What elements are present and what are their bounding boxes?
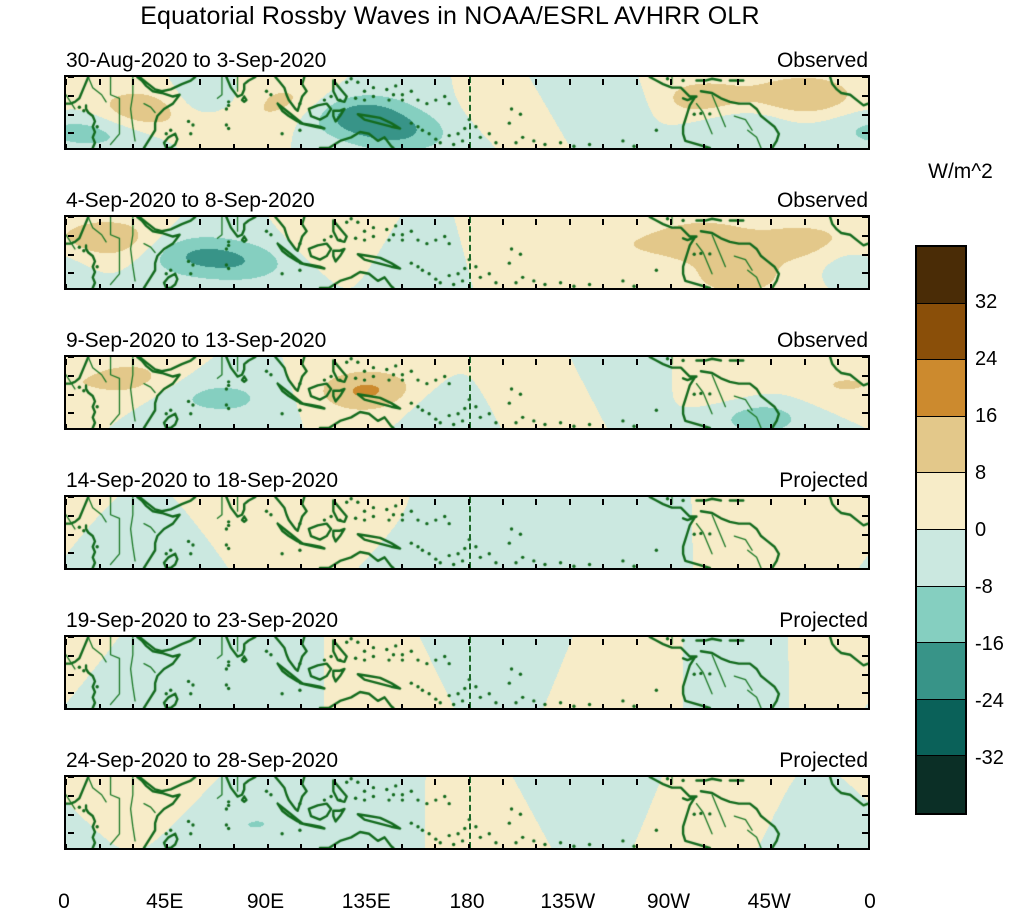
axis-tick: [535, 284, 537, 290]
axis-tick: [401, 284, 403, 290]
panel-date-range: 14-Sep-2020 to 18-Sep-2020: [66, 469, 338, 493]
axis-tick: [334, 359, 336, 365]
dateline-meridian: [469, 777, 471, 848]
panel-plot-area: [64, 495, 870, 570]
axis-tick: [636, 359, 638, 365]
axis-tick: [770, 424, 772, 430]
axis-tick: [132, 219, 134, 225]
axis-tick: [468, 144, 470, 150]
axis-tick: [862, 776, 868, 778]
axis-tick: [703, 844, 705, 850]
axis-tick: [334, 499, 336, 505]
axis-tick: [367, 219, 369, 225]
axis-tick: [670, 499, 672, 505]
axis-tick: [737, 79, 739, 85]
axis-tick: [166, 499, 168, 505]
axis-tick: [569, 499, 571, 505]
x-axis-tick-label: 180: [449, 890, 484, 914]
axis-tick: [300, 844, 302, 850]
axis-tick: [99, 359, 101, 365]
axis-tick: [166, 639, 168, 645]
x-axis-tick-label: 45W: [748, 890, 791, 914]
axis-tick: [166, 704, 168, 710]
axis-tick: [502, 219, 504, 225]
x-axis-tick-label: 45E: [146, 890, 183, 914]
axis-tick: [535, 79, 537, 85]
axis-tick: [636, 219, 638, 225]
axis-tick: [670, 359, 672, 365]
axis-tick: [770, 219, 772, 225]
axis-tick: [837, 284, 839, 290]
axis-tick: [166, 424, 168, 430]
axis-tick: [434, 639, 436, 645]
axis-tick: [703, 359, 705, 365]
axis-tick: [737, 639, 739, 645]
axis-tick: [862, 114, 868, 116]
axis-tick: [862, 552, 868, 554]
axis-tick: [334, 779, 336, 785]
axis-tick: [535, 704, 537, 710]
axis-tick: [737, 499, 739, 505]
panel-status-label: Projected: [779, 749, 868, 773]
panel-date-range: 4-Sep-2020 to 8-Sep-2020: [66, 189, 315, 213]
axis-tick: [132, 844, 134, 850]
axis-tick: [166, 219, 168, 225]
axis-tick: [267, 704, 269, 710]
axis-tick: [770, 704, 772, 710]
axis-tick: [434, 79, 436, 85]
axis-tick: [99, 79, 101, 85]
panel-status-label: Observed: [777, 189, 868, 213]
axis-tick: [862, 356, 868, 358]
map-panel[interactable]: 30-Aug-2020 to 3-Sep-2020Observed: [64, 75, 870, 150]
dateline-meridian: [469, 357, 471, 428]
axis-tick: [434, 144, 436, 150]
colorbar-band: [917, 756, 965, 813]
axis-tick: [862, 814, 868, 816]
axis-tick: [804, 79, 806, 85]
axis-tick: [602, 704, 604, 710]
axis-tick: [401, 779, 403, 785]
axis-tick: [602, 779, 604, 785]
x-axis-tick-label: 90W: [647, 890, 690, 914]
axis-tick: [434, 704, 436, 710]
axis-tick: [367, 359, 369, 365]
panel-plot-area: [64, 355, 870, 430]
axis-tick: [334, 639, 336, 645]
panel-status-label: Projected: [779, 469, 868, 493]
panel-header: 30-Aug-2020 to 3-Sep-2020Observed: [64, 49, 870, 73]
colorbar-band: [917, 473, 965, 530]
axis-tick: [199, 144, 201, 150]
axis-tick: [401, 564, 403, 570]
page-title: Equatorial Rossby Waves in NOAA/ESRL AVH…: [0, 2, 900, 31]
axis-tick: [703, 779, 705, 785]
colorbar-tick-labels: 32241680-8-16-24-32: [975, 245, 1021, 815]
axis-tick: [65, 144, 67, 150]
axis-tick: [68, 534, 74, 536]
axis-tick: [334, 144, 336, 150]
axis-tick: [300, 779, 302, 785]
axis-tick: [569, 704, 571, 710]
colorbar-tick-label: 16: [975, 406, 997, 426]
axis-tick: [434, 424, 436, 430]
axis-tick: [569, 144, 571, 150]
axis-tick: [670, 219, 672, 225]
axis-tick: [837, 499, 839, 505]
colorbar-tick-label: 8: [975, 463, 986, 483]
dateline-meridian: [469, 497, 471, 568]
axis-tick: [535, 424, 537, 430]
axis-tick: [199, 284, 201, 290]
axis-tick: [166, 79, 168, 85]
axis-tick: [367, 499, 369, 505]
axis-tick: [68, 114, 74, 116]
map-panel[interactable]: 24-Sep-2020 to 28-Sep-2020Projected: [64, 775, 870, 850]
axis-tick: [862, 692, 868, 694]
axis-tick: [267, 144, 269, 150]
axis-tick: [862, 394, 868, 396]
axis-tick: [468, 359, 470, 365]
axis-tick: [804, 359, 806, 365]
axis-tick: [737, 144, 739, 150]
axis-tick: [636, 284, 638, 290]
axis-tick: [804, 639, 806, 645]
axis-tick: [737, 704, 739, 710]
panel-plot-area: [64, 215, 870, 290]
axis-tick: [602, 144, 604, 150]
axis-tick: [670, 844, 672, 850]
axis-tick: [636, 704, 638, 710]
colorbar-tick-label: -8: [975, 577, 993, 597]
axis-tick: [434, 284, 436, 290]
axis-tick: [334, 564, 336, 570]
axis-tick: [703, 639, 705, 645]
axis-tick: [132, 639, 134, 645]
axis-tick: [602, 639, 604, 645]
axis-tick: [502, 359, 504, 365]
axis-tick: [68, 132, 74, 134]
axis-tick: [99, 284, 101, 290]
axis-tick: [401, 79, 403, 85]
colorbar-tick-label: -16: [975, 634, 1004, 654]
dateline-meridian: [469, 77, 471, 148]
axis-tick: [401, 704, 403, 710]
axis-tick: [300, 79, 302, 85]
axis-tick: [804, 704, 806, 710]
axis-tick: [334, 219, 336, 225]
axis-tick: [703, 499, 705, 505]
axis-tick: [233, 219, 235, 225]
axis-tick: [670, 704, 672, 710]
axis-tick: [569, 79, 571, 85]
axis-tick: [770, 499, 772, 505]
axis-tick: [770, 639, 772, 645]
axis-tick: [166, 779, 168, 785]
axis-tick: [267, 359, 269, 365]
axis-tick: [502, 424, 504, 430]
axis-tick: [367, 564, 369, 570]
axis-tick: [334, 704, 336, 710]
panel-status-label: Observed: [777, 329, 868, 353]
axis-tick: [670, 79, 672, 85]
axis-tick: [233, 79, 235, 85]
axis-tick: [770, 359, 772, 365]
axis-tick: [99, 639, 101, 645]
colorbar[interactable]: [915, 245, 967, 815]
axis-tick: [401, 639, 403, 645]
axis-tick: [68, 552, 74, 554]
panel-header: 19-Sep-2020 to 23-Sep-2020Projected: [64, 609, 870, 633]
axis-tick: [636, 424, 638, 430]
axis-tick: [132, 564, 134, 570]
axis-tick: [770, 564, 772, 570]
axis-tick: [737, 359, 739, 365]
axis-tick: [502, 499, 504, 505]
axis-tick: [68, 412, 74, 414]
axis-tick: [602, 284, 604, 290]
axis-tick: [703, 219, 705, 225]
axis-tick: [267, 639, 269, 645]
axis-tick: [837, 424, 839, 430]
axis-tick: [569, 424, 571, 430]
axis-tick: [804, 424, 806, 430]
axis-tick: [502, 144, 504, 150]
axis-tick: [267, 564, 269, 570]
axis-tick: [300, 639, 302, 645]
axis-tick: [334, 424, 336, 430]
axis-tick: [703, 144, 705, 150]
panel-date-range: 9-Sep-2020 to 13-Sep-2020: [66, 329, 326, 353]
x-axis-tick-label: 0: [58, 890, 70, 914]
axis-tick: [862, 95, 868, 97]
axis-tick: [502, 704, 504, 710]
axis-tick: [367, 704, 369, 710]
axis-tick: [300, 219, 302, 225]
axis-tick: [837, 79, 839, 85]
axis-tick: [367, 844, 369, 850]
axis-tick: [737, 284, 739, 290]
x-axis-tick-label: 135W: [540, 890, 595, 914]
axis-tick: [670, 424, 672, 430]
panel-header: 4-Sep-2020 to 8-Sep-2020Observed: [64, 189, 870, 213]
axis-tick: [367, 779, 369, 785]
axis-tick: [132, 284, 134, 290]
axis-tick: [535, 359, 537, 365]
axis-tick: [68, 76, 74, 78]
axis-tick: [367, 144, 369, 150]
axis-tick: [199, 844, 201, 850]
axis-tick: [68, 235, 74, 237]
axis-tick: [804, 844, 806, 850]
axis-tick: [132, 779, 134, 785]
axis-tick: [703, 284, 705, 290]
axis-tick: [535, 564, 537, 570]
axis-tick: [703, 79, 705, 85]
axis-tick: [636, 779, 638, 785]
axis-tick: [862, 272, 868, 274]
axis-tick: [837, 359, 839, 365]
axis-tick: [233, 424, 235, 430]
axis-tick: [68, 776, 74, 778]
axis-tick: [166, 564, 168, 570]
axis-tick: [602, 499, 604, 505]
axis-tick: [132, 424, 134, 430]
map-panel[interactable]: 4-Sep-2020 to 8-Sep-2020Observed: [64, 215, 870, 290]
axis-tick: [468, 219, 470, 225]
colorbar-tick-label: -32: [975, 748, 1004, 768]
axis-tick: [300, 424, 302, 430]
colorbar-tick-label: 32: [975, 292, 997, 312]
axis-tick: [434, 219, 436, 225]
axis-tick: [770, 144, 772, 150]
axis-tick: [569, 779, 571, 785]
axis-tick: [267, 284, 269, 290]
axis-tick: [535, 639, 537, 645]
axis-tick: [862, 832, 868, 834]
axis-tick: [300, 499, 302, 505]
axis-tick: [132, 79, 134, 85]
axis-tick: [434, 359, 436, 365]
axis-tick: [737, 844, 739, 850]
axis-tick: [68, 674, 74, 676]
axis-tick: [434, 844, 436, 850]
axis-tick: [68, 375, 74, 377]
olr-anomaly-field: [66, 497, 868, 568]
axis-tick: [468, 779, 470, 785]
axis-tick: [199, 704, 201, 710]
axis-tick: [233, 359, 235, 365]
axis-tick: [569, 284, 571, 290]
axis-tick: [132, 704, 134, 710]
axis-tick: [502, 779, 504, 785]
colorbar-band: [917, 304, 965, 361]
panel-status-label: Projected: [779, 609, 868, 633]
axis-tick: [267, 219, 269, 225]
axis-tick: [770, 779, 772, 785]
axis-tick: [434, 564, 436, 570]
axis-tick: [862, 254, 868, 256]
axis-tick: [804, 144, 806, 150]
panel-date-range: 19-Sep-2020 to 23-Sep-2020: [66, 609, 338, 633]
axis-tick: [434, 779, 436, 785]
olr-anomaly-field: [66, 637, 868, 708]
axis-tick: [636, 499, 638, 505]
axis-tick: [68, 636, 74, 638]
axis-tick: [99, 704, 101, 710]
axis-tick: [401, 499, 403, 505]
map-panel[interactable]: 14-Sep-2020 to 18-Sep-2020Projected: [64, 495, 870, 570]
axis-tick: [65, 219, 67, 225]
axis-tick: [602, 79, 604, 85]
axis-tick: [535, 144, 537, 150]
olr-anomaly-field: [66, 777, 868, 848]
axis-tick: [199, 79, 201, 85]
axis-tick: [862, 132, 868, 134]
axis-tick: [267, 844, 269, 850]
axis-tick: [737, 564, 739, 570]
axis-tick: [99, 779, 101, 785]
axis-tick: [862, 655, 868, 657]
axis-tick: [502, 844, 504, 850]
axis-tick: [65, 639, 67, 645]
colorbar-tick-label: -24: [975, 691, 1004, 711]
axis-tick: [804, 779, 806, 785]
axis-tick: [99, 564, 101, 570]
axis-tick: [99, 219, 101, 225]
panel-date-range: 30-Aug-2020 to 3-Sep-2020: [66, 49, 326, 73]
axis-tick: [65, 284, 67, 290]
axis-tick: [636, 639, 638, 645]
axis-tick: [703, 424, 705, 430]
axis-tick: [68, 95, 74, 97]
panel-date-range: 24-Sep-2020 to 28-Sep-2020: [66, 749, 338, 773]
colorbar-tick-label: 0: [975, 520, 986, 540]
axis-tick: [199, 779, 201, 785]
axis-tick: [367, 639, 369, 645]
axis-tick: [837, 564, 839, 570]
axis-tick: [99, 844, 101, 850]
axis-tick: [569, 639, 571, 645]
axis-tick: [636, 844, 638, 850]
axis-tick: [65, 704, 67, 710]
axis-tick: [502, 79, 504, 85]
colorbar-band: [917, 587, 965, 644]
axis-tick: [602, 219, 604, 225]
axis-tick: [68, 655, 74, 657]
axis-tick: [99, 499, 101, 505]
axis-tick: [804, 499, 806, 505]
panel-header: 24-Sep-2020 to 28-Sep-2020Projected: [64, 749, 870, 773]
axis-tick: [334, 284, 336, 290]
dateline-meridian: [469, 217, 471, 288]
axis-tick: [65, 564, 67, 570]
axis-tick: [367, 424, 369, 430]
olr-anomaly-field: [66, 77, 868, 148]
panel-plot-area: [64, 635, 870, 710]
axis-tick: [65, 844, 67, 850]
axis-tick: [837, 144, 839, 150]
axis-tick: [502, 639, 504, 645]
axis-tick: [68, 795, 74, 797]
axis-tick: [602, 844, 604, 850]
axis-tick: [468, 284, 470, 290]
axis-tick: [132, 359, 134, 365]
colorbar-band: [917, 530, 965, 587]
axis-tick: [233, 564, 235, 570]
axis-tick: [535, 219, 537, 225]
map-panel[interactable]: 9-Sep-2020 to 13-Sep-2020Observed: [64, 355, 870, 430]
axis-tick: [334, 844, 336, 850]
axis-tick: [233, 499, 235, 505]
axis-tick: [804, 219, 806, 225]
axis-tick: [68, 496, 74, 498]
axis-tick: [199, 219, 201, 225]
axis-tick: [233, 284, 235, 290]
axis-tick: [68, 216, 74, 218]
axis-tick: [737, 779, 739, 785]
axis-tick: [300, 284, 302, 290]
axis-tick: [68, 814, 74, 816]
axis-tick: [132, 499, 134, 505]
axis-tick: [300, 144, 302, 150]
axis-tick: [837, 704, 839, 710]
colorbar-band: [917, 700, 965, 757]
map-panel[interactable]: 19-Sep-2020 to 23-Sep-2020Projected: [64, 635, 870, 710]
olr-anomaly-field: [66, 357, 868, 428]
axis-tick: [569, 844, 571, 850]
axis-tick: [267, 779, 269, 785]
